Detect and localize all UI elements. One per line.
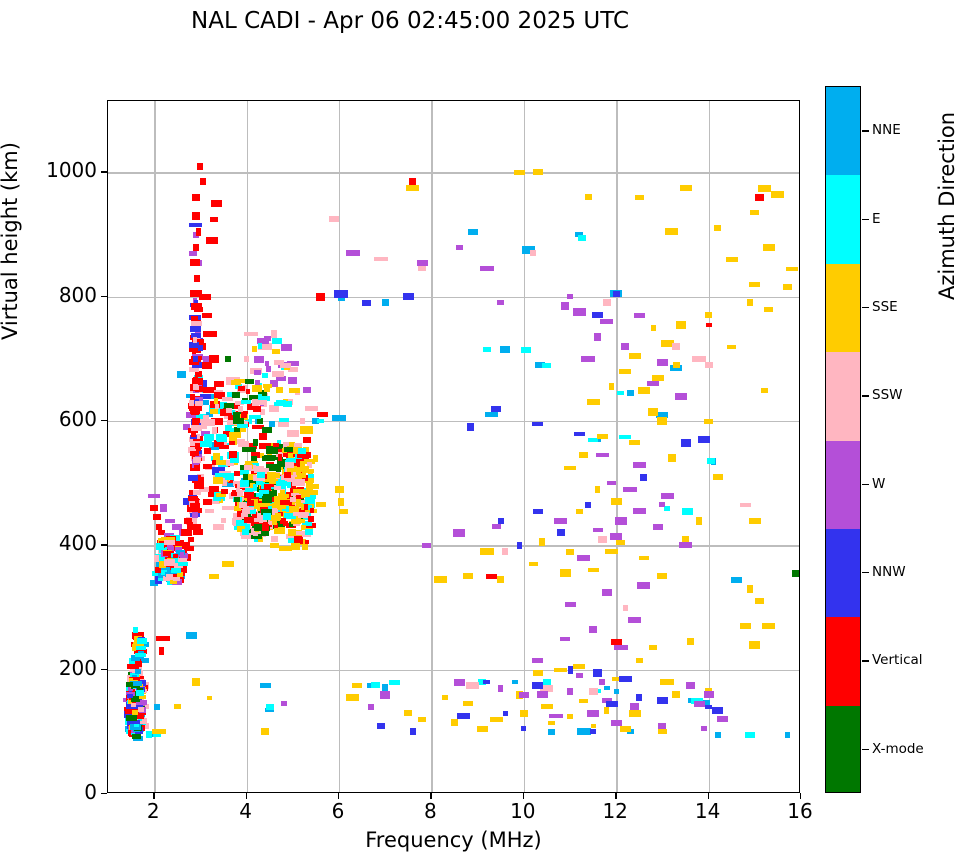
echo-point: [597, 434, 608, 439]
echo-point: [193, 356, 198, 362]
echo-point: [680, 185, 692, 191]
echo-point: [308, 490, 318, 495]
colorbar-label-sse: SSE: [872, 299, 898, 315]
x-tick-label-16: 16: [770, 799, 830, 823]
echo-point: [288, 377, 297, 384]
echo-point: [338, 498, 344, 506]
echo-point: [281, 483, 286, 489]
echo-point: [305, 406, 318, 411]
echo-point: [740, 503, 751, 507]
echo-point: [278, 454, 282, 461]
echo-point: [675, 393, 687, 400]
echo-point: [193, 524, 201, 530]
echo-point: [317, 412, 328, 417]
echo-point: [747, 299, 753, 306]
echo-point: [133, 627, 138, 633]
echo-point: [159, 647, 164, 655]
echo-point: [332, 415, 346, 421]
echo-point: [561, 302, 569, 310]
y-tick-mark-0: [101, 793, 107, 794]
echo-point: [237, 439, 245, 444]
echo-point: [647, 381, 659, 386]
echo-point: [692, 356, 706, 362]
echo-point: [203, 499, 212, 505]
echo-point: [755, 194, 764, 201]
echo-point: [290, 497, 296, 502]
echo-point: [258, 343, 262, 349]
echo-point: [213, 477, 223, 484]
echo-point: [486, 574, 497, 579]
colorbar-tick-nne: [862, 130, 869, 131]
echo-point: [212, 427, 217, 434]
echo-point: [210, 409, 218, 414]
echo-point: [649, 645, 657, 650]
echo-point: [242, 447, 256, 452]
echo-point: [289, 388, 300, 393]
echo-point: [253, 406, 261, 412]
echo-point: [617, 391, 624, 395]
echo-point: [246, 389, 250, 394]
echo-point: [262, 373, 268, 378]
echo-point: [300, 426, 313, 434]
echo-point: [228, 415, 233, 420]
echo-point: [190, 394, 195, 400]
colorbar-tick-nnw: [862, 572, 869, 573]
echo-point: [480, 548, 494, 555]
echo-point: [541, 704, 553, 709]
echo-point: [271, 536, 278, 542]
echo-point: [616, 540, 625, 545]
echo-point: [682, 508, 693, 515]
echo-point: [749, 641, 760, 649]
echo-point: [238, 386, 245, 391]
echo-point: [201, 422, 207, 429]
echo-point: [635, 195, 644, 200]
echo-point: [269, 421, 275, 427]
echo-point: [247, 500, 254, 506]
echo-point: [205, 509, 214, 513]
echo-point: [209, 574, 219, 579]
page-title: NAL CADI - Apr 06 02:45:00 2025 UTC: [0, 8, 820, 34]
echo-point: [578, 235, 586, 241]
echo-point: [371, 682, 380, 688]
echo-point: [652, 375, 664, 381]
y-tick-label-400: 400: [35, 531, 97, 555]
colorbar-label-x-mode: X-mode: [872, 741, 924, 757]
echo-point: [189, 348, 198, 352]
echo-point: [244, 356, 249, 362]
echo-point: [257, 418, 263, 424]
echo-point: [244, 332, 258, 336]
echo-point: [532, 658, 543, 663]
echo-point: [200, 178, 206, 185]
echo-point: [264, 386, 270, 392]
echo-point: [614, 645, 628, 650]
echo-point: [305, 497, 315, 502]
echo-point: [196, 228, 201, 236]
echo-point: [310, 508, 314, 513]
colorbar-segment-e: [826, 175, 860, 263]
echo-point: [676, 321, 686, 329]
echo-point: [783, 284, 792, 290]
echo-point: [257, 477, 265, 481]
colorbar-segment-w: [826, 441, 860, 529]
echo-point: [628, 617, 641, 623]
echo-point: [239, 502, 246, 508]
echo-point: [238, 406, 243, 412]
echo-point: [241, 400, 251, 404]
echo-point: [457, 713, 470, 719]
echo-point: [594, 333, 601, 341]
echo-point: [214, 398, 218, 404]
y-axis-label: Virtual height (km): [0, 142, 22, 340]
echo-point: [245, 379, 254, 384]
echo-point: [221, 518, 226, 523]
echo-point: [657, 573, 667, 579]
echo-point: [253, 484, 257, 491]
echo-point: [284, 447, 293, 452]
echo-point: [317, 419, 324, 423]
echo-point: [519, 692, 529, 698]
echo-point: [285, 462, 294, 468]
echo-point: [698, 436, 710, 443]
x-tick-mark-14: [708, 793, 709, 799]
echo-point: [203, 331, 217, 337]
echo-point: [276, 466, 281, 472]
echo-point: [213, 524, 224, 530]
colorbar-segment-x-mode: [826, 706, 860, 793]
echo-point: [560, 569, 571, 577]
echo-point: [283, 401, 292, 407]
ionogram-figure: NAL CADI - Apr 06 02:45:00 2025 UTC 0200…: [0, 0, 972, 865]
echo-point: [156, 524, 162, 530]
echo-point: [174, 704, 181, 709]
echo-point: [661, 493, 674, 499]
echo-point: [672, 691, 680, 698]
echo-point: [512, 680, 518, 684]
echo-point: [442, 695, 448, 700]
echo-point: [254, 370, 261, 375]
azimuth-colorbar: [825, 86, 861, 793]
echo-point: [152, 729, 166, 734]
echo-point: [181, 529, 192, 536]
echo-point: [659, 502, 665, 507]
echo-point: [418, 266, 426, 271]
echo-point: [577, 728, 591, 735]
echo-point: [623, 487, 637, 492]
echo-point: [202, 362, 212, 369]
echo-point: [215, 404, 219, 409]
echo-point: [417, 260, 428, 266]
gridline-y-800: [108, 297, 799, 298]
echo-point: [197, 163, 203, 170]
echo-point: [304, 504, 308, 510]
echo-point: [188, 496, 198, 501]
echo-point: [611, 720, 622, 726]
echo-point: [565, 602, 576, 607]
echo-point: [194, 275, 200, 282]
echo-point: [468, 229, 478, 235]
echo-point: [303, 437, 311, 443]
echo-point: [596, 453, 609, 457]
echo-point: [265, 361, 269, 366]
echo-point: [252, 385, 262, 392]
x-tick-mark-12: [615, 793, 616, 799]
echo-point: [126, 682, 133, 687]
echo-point: [717, 716, 728, 722]
echo-point: [577, 555, 590, 561]
echo-point: [316, 502, 326, 507]
echo-point: [132, 734, 141, 739]
echo-point: [284, 472, 291, 478]
echo-point: [403, 293, 414, 300]
echo-point: [532, 682, 543, 689]
echo-point: [135, 661, 142, 667]
x-tick-label-14: 14: [678, 799, 738, 823]
echo-point: [533, 509, 543, 514]
echo-point: [705, 362, 713, 368]
echo-point: [490, 717, 503, 722]
echo-point: [620, 726, 631, 732]
echo-point: [216, 493, 226, 497]
x-tick-mark-2: [153, 793, 154, 799]
echo-point: [529, 562, 538, 566]
echo-point: [368, 704, 374, 710]
echo-point: [581, 356, 595, 362]
echo-point: [410, 728, 416, 735]
echo-point: [305, 529, 313, 535]
echo-point: [681, 439, 691, 447]
echo-point: [202, 313, 212, 318]
echo-point: [229, 441, 235, 445]
echo-point: [533, 169, 543, 175]
echo-point: [171, 568, 181, 573]
echo-point: [339, 509, 348, 514]
echo-point: [297, 473, 306, 478]
echo-point: [136, 690, 144, 696]
echo-point: [126, 715, 137, 721]
echo-point: [638, 387, 650, 394]
echo-point: [192, 678, 200, 686]
echo-point: [263, 513, 271, 520]
echo-point: [629, 440, 640, 445]
echo-point: [590, 729, 596, 734]
echo-point: [192, 212, 200, 220]
echo-point: [219, 445, 229, 449]
echo-point: [549, 714, 563, 718]
echo-point: [619, 676, 632, 682]
echo-point: [346, 694, 359, 701]
colorbar-label-nne: NNE: [872, 122, 901, 138]
echo-point: [334, 290, 348, 298]
echo-point: [651, 325, 656, 331]
echo-point: [237, 424, 248, 428]
x-tick-label-8: 8: [400, 799, 460, 823]
echo-point: [253, 439, 258, 446]
echo-point: [406, 185, 419, 191]
echo-point: [306, 483, 313, 490]
echo-point: [291, 543, 300, 550]
echo-point: [589, 688, 598, 695]
echo-point: [190, 441, 195, 446]
echo-point: [258, 534, 262, 539]
echo-point: [502, 548, 508, 555]
echo-point: [567, 714, 573, 719]
echo-point: [277, 504, 286, 509]
echo-point: [592, 312, 603, 318]
echo-point: [554, 668, 567, 672]
echo-point: [682, 536, 689, 542]
echo-point: [131, 703, 136, 707]
echo-point: [178, 562, 188, 566]
echo-point: [548, 721, 555, 725]
echo-point: [454, 679, 465, 686]
echo-point: [273, 443, 279, 447]
echo-point: [660, 679, 674, 685]
echo-point: [621, 343, 629, 350]
echo-point: [701, 726, 707, 731]
echo-point: [568, 666, 573, 674]
echo-point: [585, 502, 591, 508]
echo-point: [740, 623, 751, 629]
echo-point: [603, 299, 611, 306]
echo-point: [747, 585, 753, 593]
echo-point: [266, 366, 271, 372]
echo-point: [249, 415, 261, 419]
echo-point: [244, 465, 252, 470]
echo-point: [604, 686, 610, 690]
y-tick-label-600: 600: [35, 407, 97, 431]
echo-point: [298, 448, 306, 454]
echo-point: [755, 598, 764, 604]
y-tick-label-800: 800: [35, 283, 97, 307]
gridline-y-400: [108, 545, 799, 546]
echo-point: [610, 533, 622, 540]
echo-point: [135, 646, 146, 650]
echo-point: [193, 490, 201, 495]
echo-point: [382, 299, 389, 306]
echo-point: [629, 710, 641, 717]
echo-point: [498, 685, 503, 692]
echo-point: [599, 679, 605, 685]
colorbar-label-ssw: SSW: [872, 387, 903, 403]
echo-point: [154, 704, 160, 710]
echo-point: [658, 723, 666, 729]
echo-point: [222, 561, 234, 567]
echo-point: [271, 473, 280, 478]
echo-point: [192, 380, 201, 384]
echo-point: [213, 453, 220, 460]
echo-point: [537, 691, 548, 698]
echo-point: [750, 210, 759, 215]
echo-point: [686, 682, 695, 689]
echo-point: [598, 536, 607, 543]
echo-point: [619, 435, 631, 439]
echo-point: [207, 696, 212, 700]
echo-point: [648, 408, 658, 416]
echo-point: [287, 430, 299, 437]
y-tick-mark-400: [101, 544, 107, 545]
echo-point: [579, 452, 588, 458]
echo-point: [576, 509, 583, 514]
echo-point: [292, 479, 297, 486]
echo-point: [272, 371, 284, 377]
echo-point: [567, 688, 573, 695]
echo-point: [192, 512, 198, 518]
echo-point: [763, 244, 775, 251]
echo-point: [731, 577, 742, 583]
echo-point: [633, 462, 646, 468]
echo-point: [252, 346, 257, 352]
echo-point: [615, 517, 627, 525]
echo-point: [480, 266, 494, 271]
echo-point: [233, 412, 240, 418]
echo-point: [749, 518, 761, 524]
echo-point: [588, 568, 599, 572]
echo-point: [713, 474, 723, 480]
echo-point: [189, 251, 197, 256]
echo-point: [132, 644, 136, 651]
echo-point: [389, 680, 400, 685]
echo-point: [758, 185, 771, 192]
echo-point: [137, 638, 147, 644]
colorbar-title: Azimuth Direction: [935, 112, 959, 300]
echo-point: [231, 380, 241, 385]
echo-point: [293, 519, 305, 523]
x-axis-label: Frequency (MHz): [107, 828, 800, 852]
echo-point: [230, 458, 239, 463]
echo-point: [706, 323, 712, 327]
echo-point: [276, 387, 283, 393]
echo-point: [229, 432, 241, 438]
colorbar-tick-e: [862, 219, 869, 220]
echo-point: [589, 626, 597, 633]
echo-point: [180, 552, 184, 558]
echo-point: [764, 307, 773, 312]
echo-point: [658, 729, 667, 734]
echo-point: [627, 390, 634, 396]
y-tick-label-200: 200: [35, 656, 97, 680]
echo-point: [705, 312, 712, 318]
echo-point: [673, 362, 680, 368]
echo-point: [191, 432, 196, 437]
echo-point: [156, 636, 170, 641]
echo-point: [303, 387, 311, 393]
echo-point: [668, 454, 676, 462]
echo-point: [657, 697, 668, 704]
echo-point: [530, 250, 536, 256]
echo-point: [633, 508, 646, 514]
echo-point: [275, 513, 281, 520]
echo-point: [587, 399, 600, 405]
echo-point: [785, 732, 790, 738]
echo-point: [262, 427, 272, 433]
y-tick-mark-600: [101, 420, 107, 421]
echo-point: [611, 639, 622, 645]
echo-point: [264, 484, 271, 489]
echo-point: [300, 418, 305, 424]
echo-point: [665, 228, 678, 235]
echo-point: [614, 689, 619, 694]
echo-point: [560, 637, 570, 641]
echo-point: [404, 710, 412, 716]
echo-point: [164, 559, 175, 566]
echo-point: [195, 401, 203, 406]
echo-point: [177, 371, 186, 378]
colorbar-label-vertical: Vertical: [872, 652, 923, 668]
gridline-y-1000: [108, 172, 799, 173]
echo-point: [377, 723, 385, 729]
